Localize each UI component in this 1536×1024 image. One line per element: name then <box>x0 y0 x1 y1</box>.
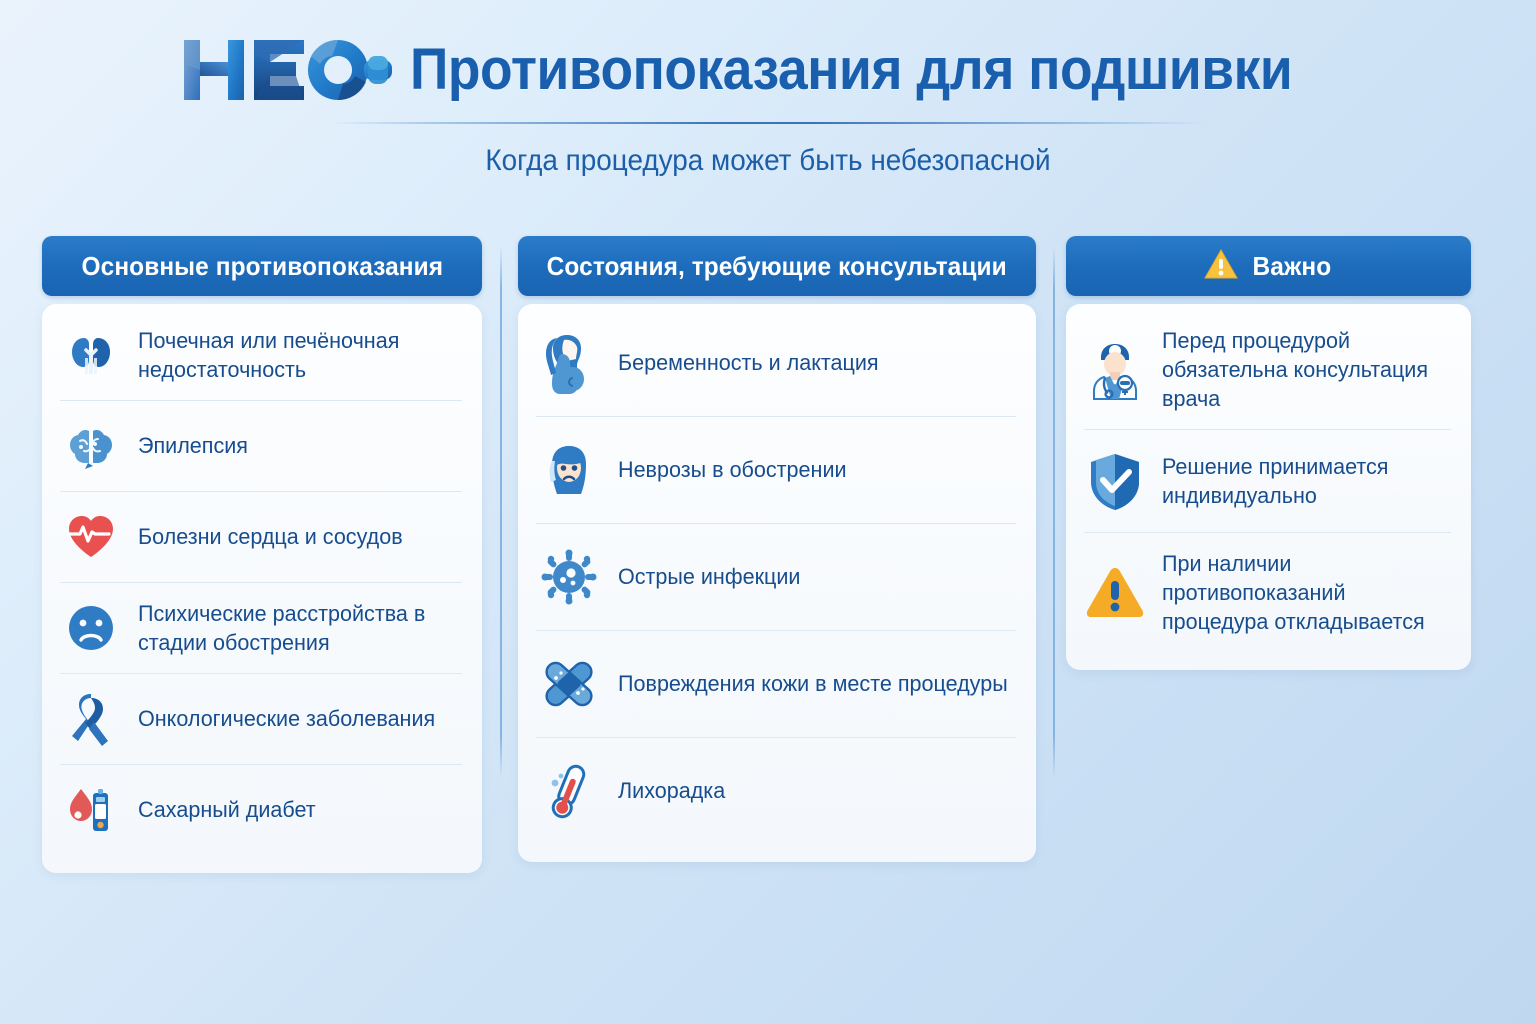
list-item[interactable]: Беременность и лактация <box>536 310 1016 417</box>
virus-icon <box>536 544 602 610</box>
column-header-label-2: Состояния, требующие консультации <box>547 251 1007 282</box>
list-item-label: Болезни сердца и сосудов <box>138 522 403 551</box>
list-item-label: Беременность и лактация <box>618 348 879 377</box>
list-item-label: При наличии противопоказаний процедура о… <box>1162 549 1445 636</box>
list-item[interactable]: Почечная или печёночная недостаточность <box>60 310 462 401</box>
sad-face-icon <box>60 597 122 659</box>
column-body-3: Перед процедурой обязательна консультаци… <box>1066 304 1471 670</box>
page-title: Противопоказания для подшивки <box>410 40 1292 101</box>
column-header-label-3: Важно <box>1252 251 1331 282</box>
list-item[interactable]: Острые инфекции <box>536 524 1016 631</box>
list-item-label: Почечная или печёночная недостаточность <box>138 326 456 384</box>
list-item[interactable]: Болезни сердца и сосудов <box>60 492 462 583</box>
list-item-label: Психические расстройства в стадии обостр… <box>138 599 456 657</box>
title-divider <box>329 122 1207 124</box>
sad-woman-icon <box>536 437 602 503</box>
heart-pulse-icon <box>60 506 122 568</box>
column-consultation-conditions: Состояния, требующие консультации Береме… <box>518 236 1036 862</box>
list-item[interactable]: Перед процедурой обязательна консультаци… <box>1084 310 1451 430</box>
list-item-label: Сахарный диабет <box>138 795 316 824</box>
kidneys-icon <box>60 324 122 386</box>
pregnant-woman-icon <box>536 330 602 396</box>
column-separator-1 <box>500 246 502 778</box>
page-subtitle: Когда процедура может быть небезопасной <box>54 144 1482 178</box>
list-item[interactable]: Психические расстройства в стадии обостр… <box>60 583 462 674</box>
list-item-label: Онкологические заболевания <box>138 704 435 733</box>
column-header-label-1: Основные противопоказания <box>81 251 443 282</box>
list-item[interactable]: Повреждения кожи в месте процедуры <box>536 631 1016 738</box>
list-item-label: Лихорадка <box>618 776 725 805</box>
columns-container: Основные противопоказания Почечная или п… <box>0 236 1536 873</box>
warning-triangle-icon <box>1084 562 1146 624</box>
list-item-label: Повреждения кожи в месте процедуры <box>618 669 1008 698</box>
brain-icon <box>60 415 122 477</box>
ribbon-icon <box>60 688 122 750</box>
column-body-1: Почечная или печёночная недостаточность … <box>42 304 482 873</box>
list-item-label: Перед процедурой обязательна консультаци… <box>1162 326 1445 413</box>
column-separator-2 <box>1053 246 1055 778</box>
list-item-label: Решение принимается индивидуально <box>1162 452 1445 510</box>
list-item-label: Острые инфекции <box>618 562 800 591</box>
column-header-3: Важно <box>1066 236 1471 296</box>
warning-triangle-icon <box>1204 248 1238 285</box>
neo-plus-logo <box>178 34 392 106</box>
column-main-contraindications: Основные противопоказания Почечная или п… <box>42 236 482 873</box>
thermometer-icon <box>536 758 602 824</box>
glucometer-icon <box>60 779 122 841</box>
list-item[interactable]: Эпилепсия <box>60 401 462 492</box>
column-body-2: Беременность и лактация Неврозы в обостр… <box>518 304 1036 862</box>
bandage-icon <box>536 651 602 717</box>
list-item[interactable]: Лихорадка <box>536 738 1016 844</box>
doctor-icon <box>1084 339 1146 401</box>
list-item-label: Неврозы в обострении <box>618 455 847 484</box>
list-item[interactable]: Неврозы в обострении <box>536 417 1016 524</box>
list-item[interactable]: Сахарный диабет <box>60 765 462 855</box>
shield-check-icon <box>1084 450 1146 512</box>
column-header-2: Состояния, требующие консультации <box>518 236 1036 296</box>
list-item[interactable]: Решение принимается индивидуально <box>1084 430 1451 533</box>
column-header-1: Основные противопоказания <box>42 236 482 296</box>
title-row: Противопоказания для подшивки <box>0 34 1536 106</box>
list-item[interactable]: Онкологические заболевания <box>60 674 462 765</box>
list-item[interactable]: При наличии противопоказаний процедура о… <box>1084 533 1451 652</box>
list-item-label: Эпилепсия <box>138 431 248 460</box>
page-header: Противопоказания для подшивки Когда проц… <box>0 0 1536 178</box>
column-important: Важно <box>1066 236 1471 670</box>
